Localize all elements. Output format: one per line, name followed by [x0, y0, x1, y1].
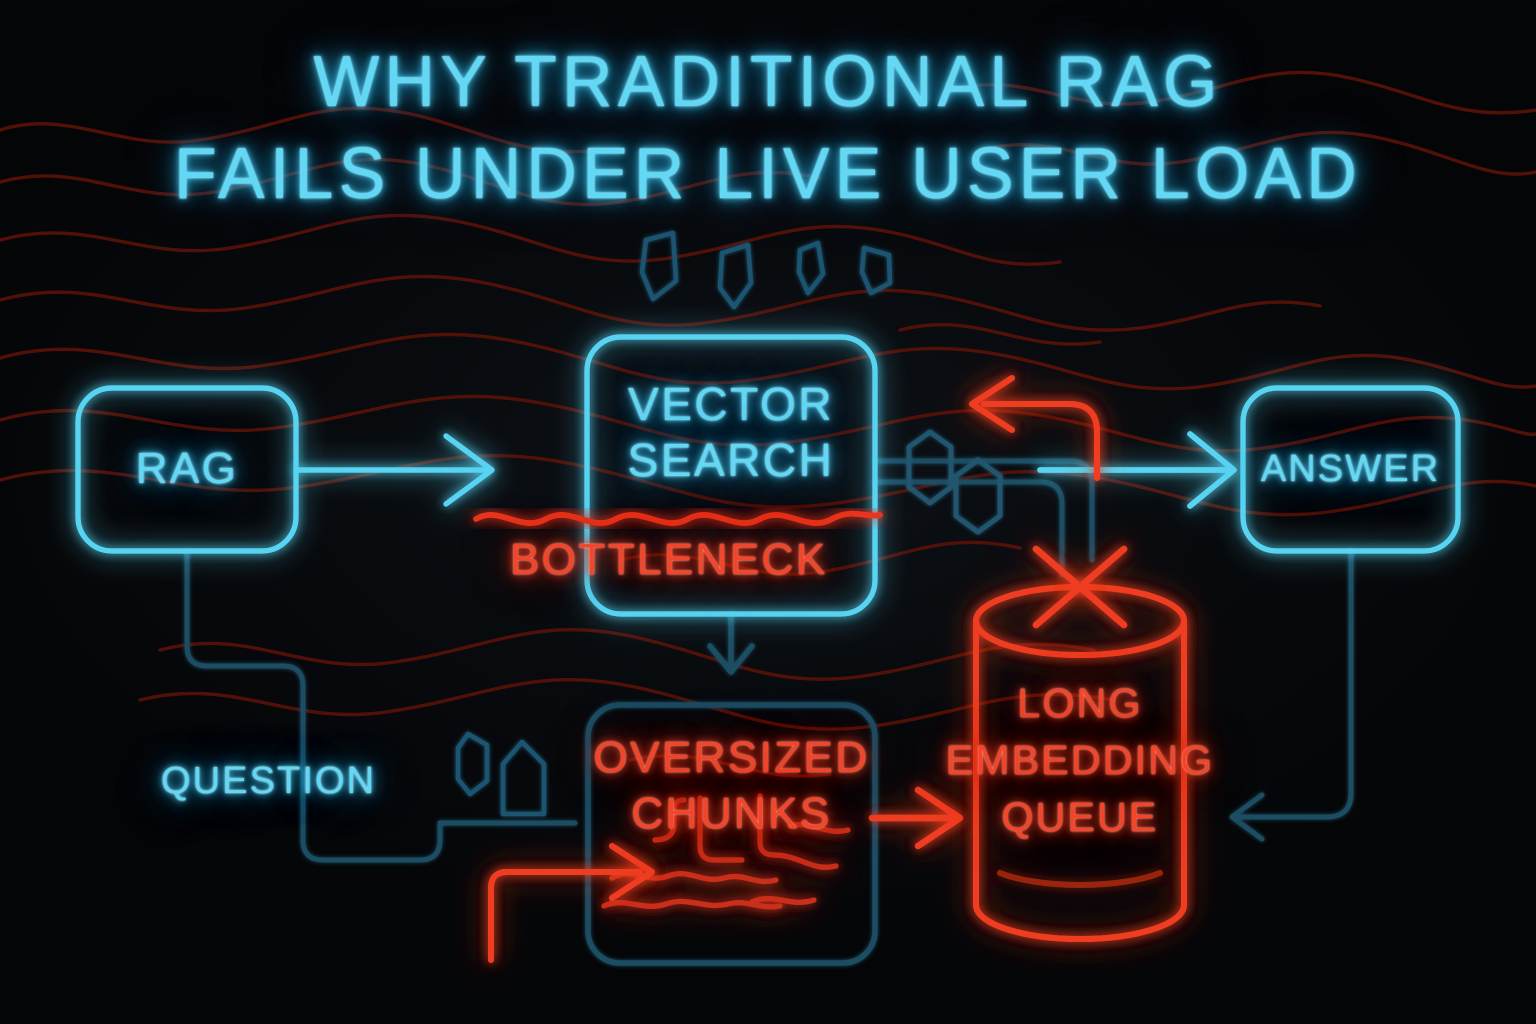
hexagon-icon-2: [956, 460, 1000, 532]
shard-icon-1: [642, 233, 676, 299]
question-label: QUESTION: [161, 762, 376, 800]
shard-icon-5: [458, 734, 487, 794]
page-title: WHY TRADITIONAL RAG FAILS UNDER LIVE USE…: [0, 36, 1536, 220]
shard-icon-3: [799, 243, 823, 293]
shard-decorations: [458, 233, 890, 814]
node-vector-search-label-line2: SEARCH: [587, 437, 875, 483]
node-oversized-chunks-label-line1: OVERSIZED: [588, 736, 875, 780]
edge-vs-to-chunks: [710, 614, 752, 672]
route-rag-to-question: [187, 551, 440, 860]
bottleneck-label: BOTTLENECK: [510, 538, 828, 582]
diagram-canvas: WHY TRADITIONAL RAG FAILS UNDER LIVE USE…: [0, 0, 1536, 1024]
shard-icon-6: [503, 742, 544, 814]
node-queue-label-line1: LONG: [960, 683, 1200, 724]
title-line-2: FAILS UNDER LIVE USER LOAD: [23, 128, 1513, 220]
node-rag-label: RAG: [78, 447, 296, 491]
node-answer-label: ANSWER: [1243, 450, 1458, 488]
title-line-1: WHY TRADITIONAL RAG: [23, 36, 1513, 128]
route-answer-feedback: [1238, 551, 1351, 817]
hexagon-icon-1: [909, 432, 951, 503]
node-queue-label-line2: EMBEDDING: [930, 740, 1230, 781]
route-vs-right-lower: [875, 482, 1062, 575]
shard-icon-2: [720, 245, 751, 307]
node-vector-search-label-line1: VECTOR: [587, 381, 875, 427]
node-oversized-chunks-label-line2: CHUNKS: [588, 792, 875, 836]
node-queue-label-line3: QUEUE: [960, 797, 1200, 838]
shard-icon-4: [862, 248, 890, 293]
